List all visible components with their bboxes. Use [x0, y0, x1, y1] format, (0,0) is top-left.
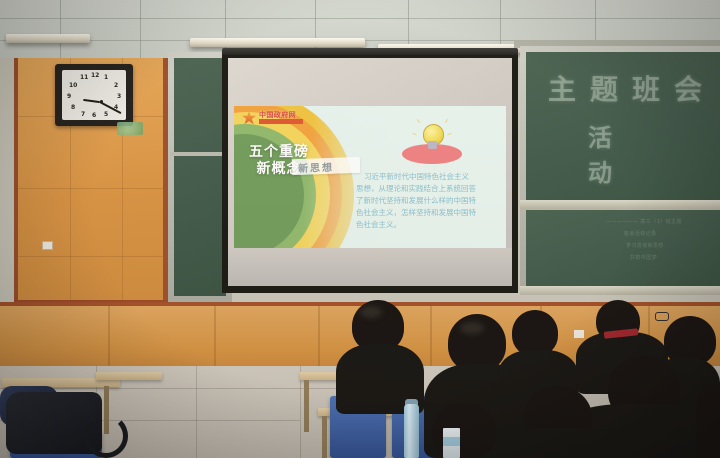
chalkboard-right-lower-panel: —————— 高三（1）班主题 班会活动记录 学习贯彻新思想 共筑中国梦 [526, 210, 720, 288]
clock-numeral: 5 [104, 111, 108, 118]
clock-numeral: 1 [104, 74, 108, 81]
projection-screen: 中国政府网 五个重磅新概念 新思想 习近平新时代中国特色社会主义 思想，从理论和… [228, 58, 512, 286]
power-outlet [42, 241, 53, 250]
clock-numeral: 9 [67, 93, 71, 100]
clock-numeral: 6 [92, 112, 96, 119]
chalkboard-left-panel [174, 58, 226, 296]
chalkboard-right-panel: 主题班会 活动 [526, 52, 720, 202]
clock-numeral: 2 [114, 82, 118, 89]
slide-banner: 新思想 [292, 157, 361, 175]
student-head [432, 402, 496, 458]
chalkboard-left-rail [170, 152, 230, 156]
classroom-photo: 12 1 2 3 4 5 6 7 8 9 10 11 主题班会 活动 —————… [0, 0, 720, 458]
clock-minute-hand [100, 101, 122, 114]
slide-paragraph-line: 了新时代坚持和发展什么样的中国特 [356, 196, 476, 206]
slide-paragraph-line: 色社会主义。 [356, 220, 401, 230]
wall-clock: 12 1 2 3 4 5 6 7 8 9 10 11 [55, 64, 133, 126]
chalk-note: 共筑中国梦 [630, 254, 657, 261]
chalkboard-headline: 主题班会 [548, 68, 716, 108]
star-icon [242, 111, 256, 125]
clock-hour-hand [83, 99, 100, 104]
slide-logo-underbar [259, 119, 303, 124]
slide-paragraph-line: 习近平新时代中国特色社会主义 [364, 172, 469, 182]
clock-center-pin [100, 100, 103, 103]
presentation-slide: 中国政府网 五个重磅新概念 新思想 习近平新时代中国特色社会主义 思想，从理论和… [234, 106, 506, 248]
clock-numeral: 10 [69, 82, 77, 89]
student-head [696, 384, 720, 458]
slide-logo: 中国政府网 [242, 110, 324, 126]
desk-leg [304, 380, 309, 432]
chalkboard-right-lower-rail [520, 286, 720, 295]
fluorescent-light [6, 34, 90, 43]
paper-cup-label [443, 437, 460, 446]
power-outlet [574, 330, 584, 338]
clock-numeral: 7 [81, 111, 85, 118]
lightbulb-base-icon [428, 141, 437, 149]
water-bottle [404, 404, 419, 458]
slide-banner-text: 新思想 [298, 159, 335, 175]
clock-numeral: 3 [117, 93, 121, 100]
fluorescent-light [190, 38, 365, 47]
chalkboard-subline: 活动 [588, 118, 720, 188]
wall-sticker [117, 122, 143, 135]
chalk-note: 学习贯彻新思想 [626, 242, 664, 249]
glasses-icon [655, 312, 669, 321]
clock-numeral: 8 [71, 104, 75, 111]
slide-paragraph-line: 思想，从理论和实践结合上系统回答 [356, 184, 476, 194]
clock-numeral: 12 [91, 72, 99, 79]
clock-numeral: 11 [80, 74, 88, 81]
desk-leg [322, 416, 327, 458]
backpack-strap [84, 414, 128, 458]
chalk-note: —————— 高三（1）班主题 [606, 218, 682, 225]
slide-paragraph-line: 色社会主义，怎样坚持和发展中国特 [356, 208, 476, 218]
desk [96, 372, 162, 380]
chalk-note: 班会活动记录 [624, 230, 656, 237]
student-body [498, 428, 628, 458]
chalkboard-right-rail [520, 200, 720, 209]
